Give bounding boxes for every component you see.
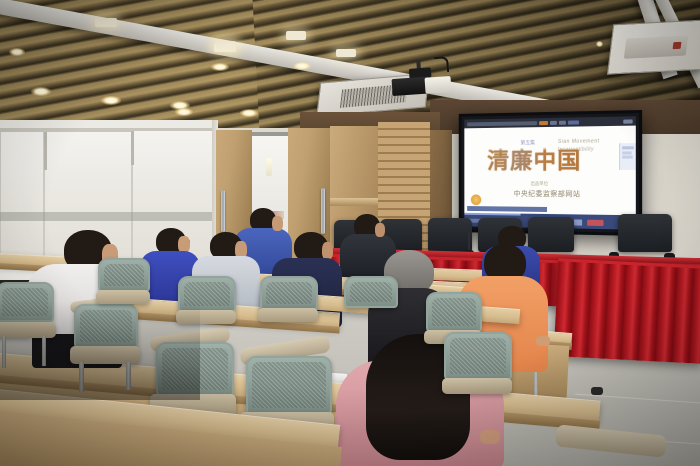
person-hand bbox=[480, 430, 500, 444]
corridor-frame bbox=[252, 132, 288, 136]
slide-subtitle-en: Sian Movement bbox=[558, 139, 600, 146]
browser-window[interactable]: Sian Movement Incorruptibility 第五集 清廉中国 … bbox=[464, 116, 635, 229]
slide-org: 中央纪委监察部网站 bbox=[514, 189, 581, 199]
person-face bbox=[375, 223, 385, 237]
corridor-light-icon bbox=[266, 158, 272, 176]
blind-pull-bar[interactable] bbox=[44, 132, 47, 170]
toolbar-button[interactable] bbox=[568, 120, 579, 124]
door-handle-icon[interactable] bbox=[321, 188, 325, 234]
blind-pull-bar[interactable] bbox=[131, 131, 134, 165]
empty-chair[interactable] bbox=[342, 276, 400, 340]
desk-caster-icon bbox=[591, 387, 603, 395]
empty-chair[interactable] bbox=[258, 276, 320, 346]
empty-chair[interactable] bbox=[442, 332, 514, 428]
ceiling-downlight-icon bbox=[9, 48, 25, 56]
person-hand bbox=[536, 336, 550, 346]
black-chair[interactable] bbox=[618, 214, 672, 252]
toolbar-button[interactable] bbox=[550, 120, 557, 124]
video-side-panel[interactable] bbox=[620, 144, 636, 171]
ceiling-downlight-icon bbox=[101, 96, 121, 105]
video-progress-bar[interactable] bbox=[464, 213, 520, 216]
browser-menu-icon[interactable] bbox=[623, 119, 632, 123]
ceiling-downlight-icon bbox=[31, 87, 51, 96]
meeting-room-photo: Sian Movement Incorruptibility 第五集 清廉中国 … bbox=[0, 0, 700, 466]
slide-main-title: 清廉中国 bbox=[487, 150, 581, 173]
ceiling-downlight-icon bbox=[240, 109, 258, 117]
slide-caption: 出品单位 bbox=[530, 181, 548, 187]
ceiling-downlight-icon bbox=[286, 31, 306, 40]
ceiling-downlight-icon bbox=[596, 41, 603, 47]
ceiling-downlight-icon bbox=[175, 108, 193, 116]
ceiling-downlight-icon bbox=[95, 18, 117, 27]
address-bar[interactable] bbox=[467, 121, 537, 126]
ceiling-downlight-icon bbox=[211, 63, 229, 71]
ceiling-downlight-icon bbox=[293, 62, 311, 70]
play-button-icon[interactable] bbox=[471, 195, 481, 206]
wall-panel-ledge bbox=[330, 198, 378, 206]
toolbar-button[interactable] bbox=[559, 120, 566, 124]
toolbar-button[interactable] bbox=[540, 120, 549, 124]
ceiling-downlight-icon bbox=[336, 49, 356, 57]
slide-episode-badge: 第五集 bbox=[520, 139, 535, 146]
presenter-table-skirt-right bbox=[554, 258, 700, 364]
person-face bbox=[272, 216, 283, 231]
door-handle-icon[interactable] bbox=[221, 190, 225, 232]
ceiling-ac-unit-icon bbox=[607, 19, 700, 74]
blind-mid-shadow bbox=[0, 212, 214, 221]
ceiling-downlight-icon bbox=[216, 41, 236, 49]
projector bbox=[391, 70, 453, 100]
video-slide: Sian Movement Incorruptibility 第五集 清廉中国 … bbox=[464, 126, 635, 216]
foreground-shadow bbox=[0, 300, 200, 400]
